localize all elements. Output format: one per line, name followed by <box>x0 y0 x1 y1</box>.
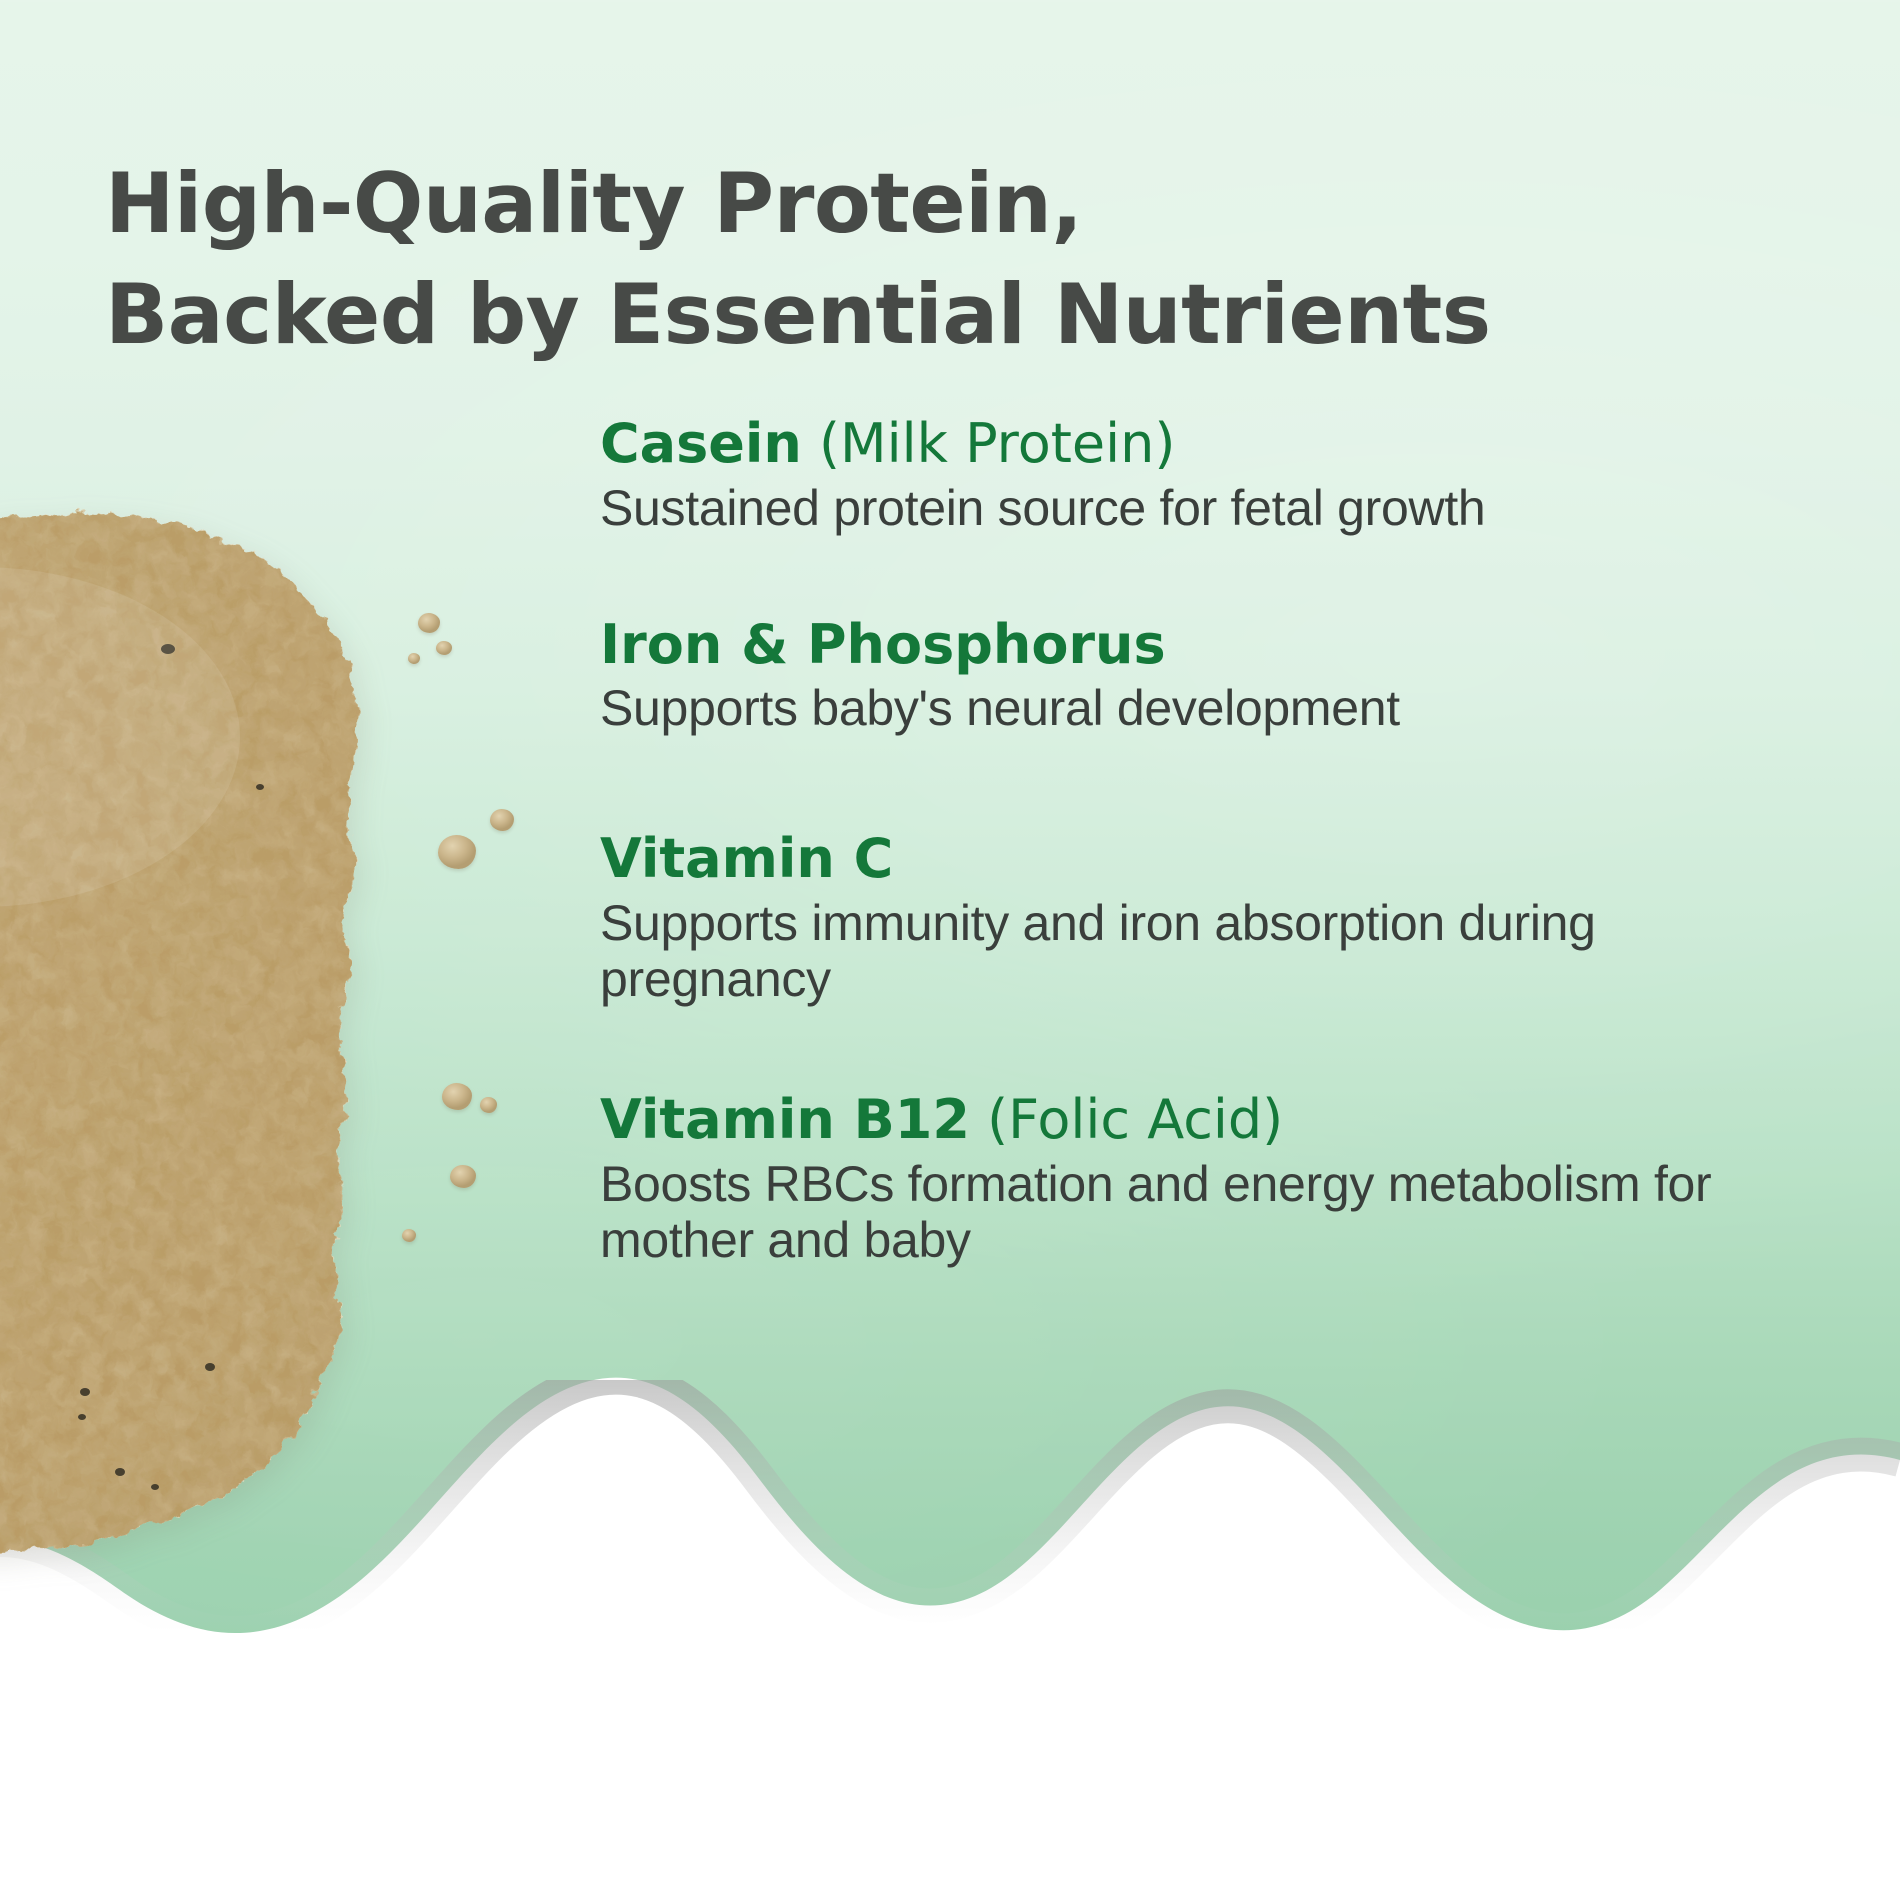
nutrient-list: Casein (Milk Protein) Sustained protein … <box>600 413 1870 1268</box>
crumb <box>408 653 420 664</box>
crumb <box>436 641 452 655</box>
crumb <box>402 1229 416 1242</box>
nutrient-description: Supports baby's neural development <box>600 680 1870 736</box>
crumb <box>480 1097 497 1113</box>
nutrient-name: Casein <box>600 412 802 475</box>
poster-canvas: High-Quality Protein, Backed by Essentia… <box>0 0 1900 1900</box>
nutrient-title: Casein (Milk Protein) <box>600 413 1870 476</box>
nutrient-description: Sustained protein source for fetal growt… <box>600 480 1600 536</box>
nutrient-item-iron-phosphorus: Iron & Phosphorus Supports baby's neural… <box>600 614 1870 737</box>
nutrient-item-vitamin-c: Vitamin C Supports immunity and iron abs… <box>600 828 1870 1007</box>
nutrient-item-casein: Casein (Milk Protein) Sustained protein … <box>600 413 1870 536</box>
nutrient-name: Vitamin C <box>600 827 893 890</box>
crumb <box>490 809 514 831</box>
nutrient-name: Iron & Phosphorus <box>600 613 1166 676</box>
nutrient-title: Vitamin B12 (Folic Acid) <box>600 1089 1870 1152</box>
product-image-biscuit <box>0 487 530 1577</box>
nutrient-title: Iron & Phosphorus <box>600 614 1870 677</box>
crumb <box>418 613 440 633</box>
page-title: High-Quality Protein, Backed by Essentia… <box>105 148 1365 370</box>
crumb <box>442 1083 472 1110</box>
nutrient-description: Boosts RBCs formation and energy metabol… <box>600 1156 1870 1268</box>
nutrient-qualifier: (Milk Protein) <box>819 412 1175 475</box>
headline-line-2: Backed by Essential Nutrients <box>105 259 1365 370</box>
nutrient-title: Vitamin C <box>600 828 1870 891</box>
nutrient-name: Vitamin B12 <box>600 1088 970 1151</box>
nutrient-qualifier: (Folic Acid) <box>987 1088 1283 1151</box>
crumb <box>450 1165 476 1188</box>
crumb <box>438 835 476 869</box>
headline-line-1: High-Quality Protein, <box>105 148 1365 259</box>
nutrient-description: Supports immunity and iron absorption du… <box>600 895 1600 1007</box>
nutrient-item-vitamin-b12: Vitamin B12 (Folic Acid) Boosts RBCs for… <box>600 1089 1870 1268</box>
